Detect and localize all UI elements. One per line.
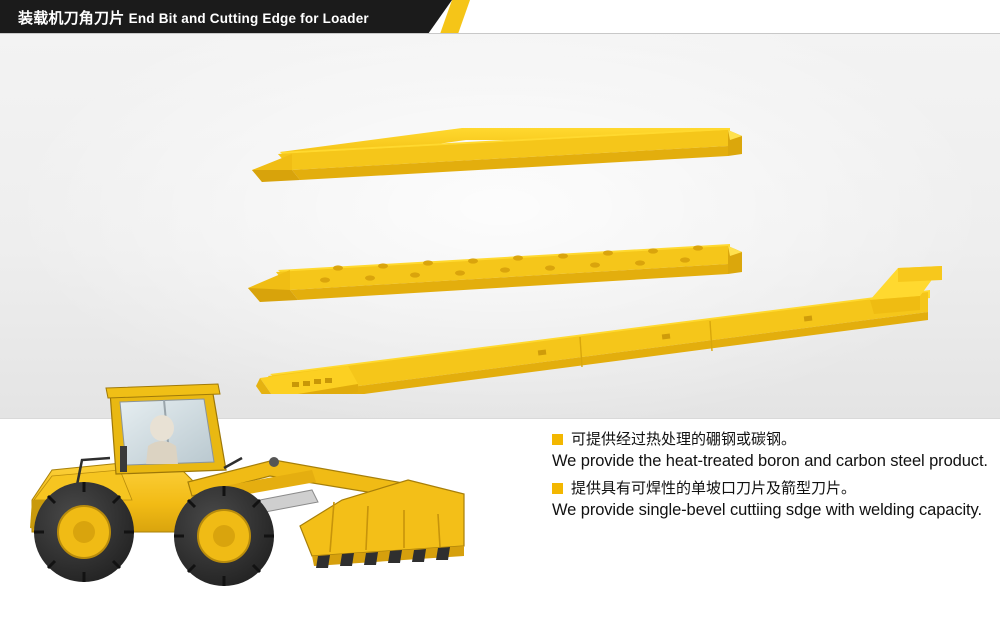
- front-wheel: [174, 486, 274, 586]
- header-title-tab: 装载机刀角刀片 End Bit and Cutting Edge for Loa…: [0, 0, 452, 34]
- feature-item-2-cn: 提供具有可焊性的单坡口刀片及箭型刀片。: [571, 478, 856, 499]
- feature-item-1-cn-row: 可提供经过热处理的硼钢或碳钢。: [552, 429, 990, 450]
- blade-with-bolt-holes: [248, 244, 742, 302]
- blade-illustrations: [230, 84, 970, 394]
- rear-wheel: [34, 482, 134, 582]
- feature-item-2-cn-row: 提供具有可焊性的单坡口刀片及箭型刀片。: [552, 478, 990, 499]
- bullet-square-icon: [552, 434, 563, 445]
- header-band: 装载机刀角刀片 End Bit and Cutting Edge for Loa…: [0, 0, 1000, 34]
- feature-list: 可提供经过热处理的硼钢或碳钢。 We provide the heat-trea…: [552, 429, 990, 521]
- feature-item-1-en: We provide the heat-treated boron and ca…: [552, 451, 990, 472]
- page-title-en: End Bit and Cutting Edge for Loader: [129, 11, 369, 26]
- wheel-loader-svg: [12, 350, 482, 600]
- bucket: [300, 480, 464, 568]
- feature-item-1-cn: 可提供经过热处理的硼钢或碳钢。: [571, 429, 796, 450]
- blades-svg: [230, 84, 970, 394]
- page-title: 装载机刀角刀片 End Bit and Cutting Edge for Loa…: [18, 7, 369, 28]
- blade-plain: [252, 128, 742, 182]
- product-brochure-page: 装载机刀角刀片 End Bit and Cutting Edge for Loa…: [0, 0, 1000, 618]
- page-title-cn: 装载机刀角刀片: [18, 10, 124, 27]
- bullet-square-icon: [552, 483, 563, 494]
- wheel-loader-illustration: [12, 350, 482, 600]
- feature-item-2-en: We provide single-bevel cuttiing sdge wi…: [552, 500, 990, 521]
